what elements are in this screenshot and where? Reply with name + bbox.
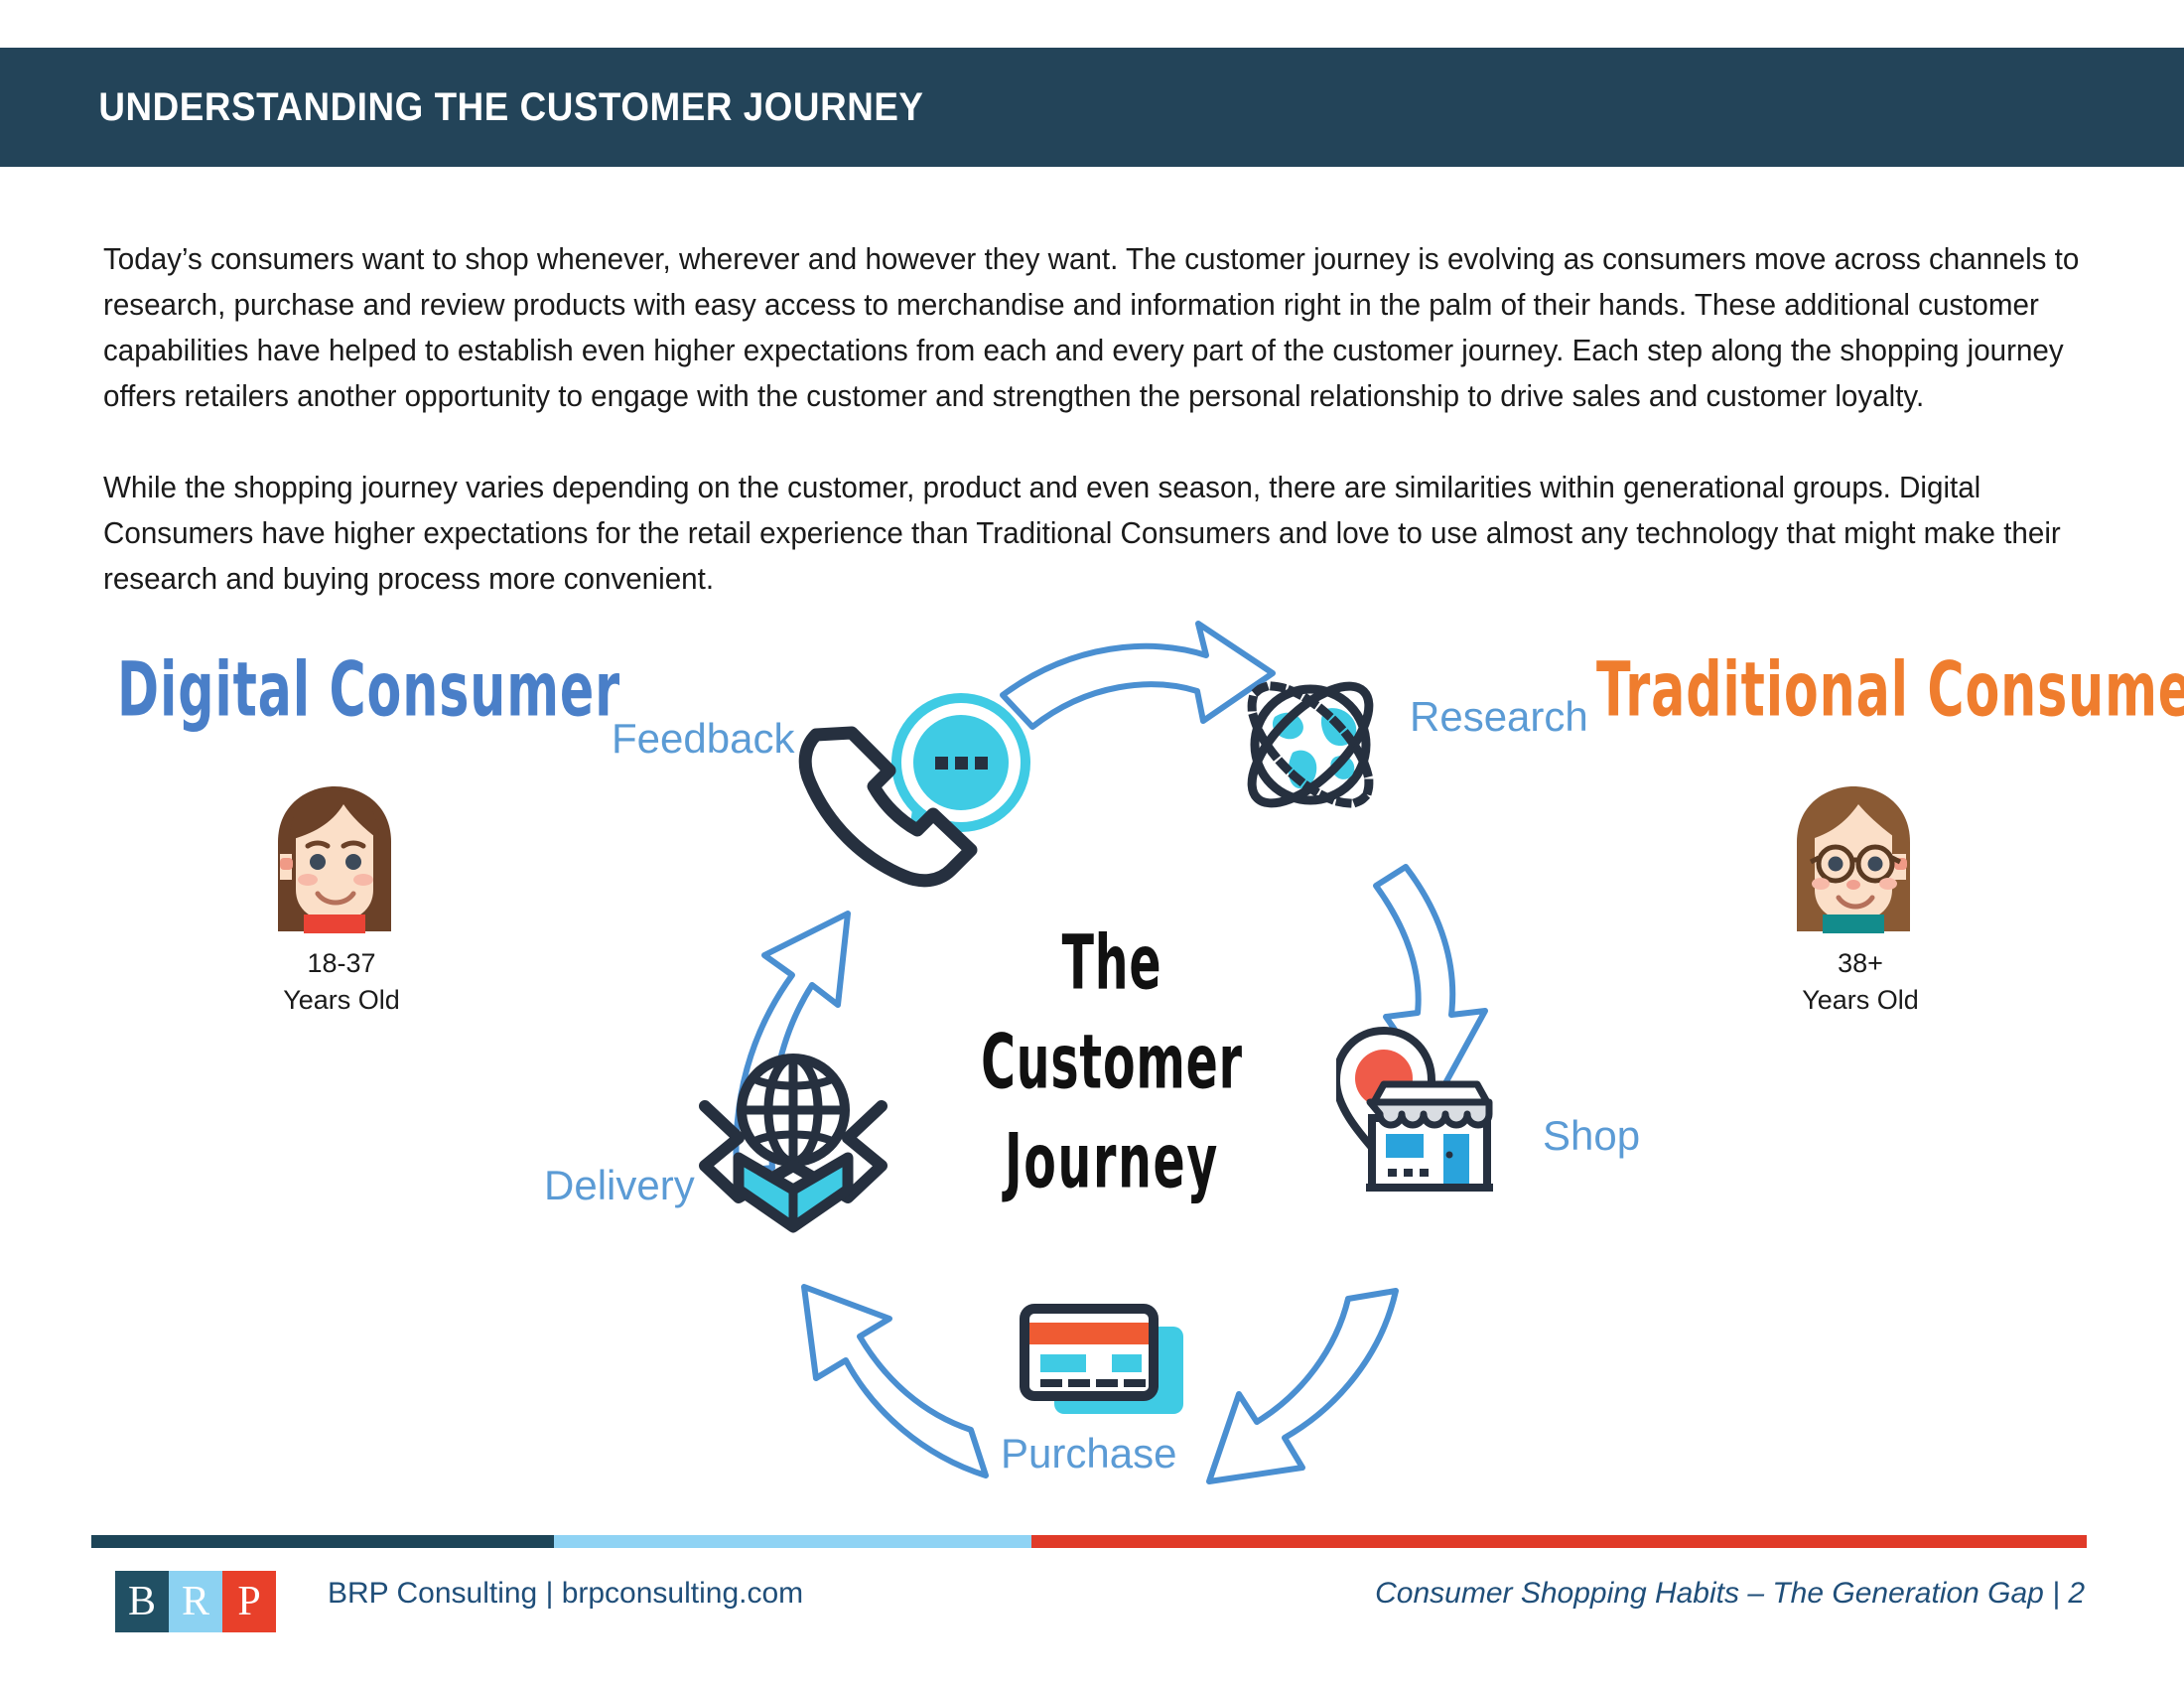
woman-glasses-avatar-icon [1779,784,1928,933]
brp-logo-letter-b: B [115,1571,169,1632]
persona-age-traditional-range: 38+ [1741,945,1979,982]
footer-rule-segment-navy [91,1535,554,1548]
persona-age-traditional-unit: Years Old [1741,982,1979,1019]
phone-chat-icon [794,675,1082,904]
storefront-pin-icon [1336,1023,1525,1211]
arrow-purchase-to-delivery [804,1287,986,1476]
footer-right-text: Consumer Shopping Habits – The Generatio… [1375,1577,2085,1611]
center-title-line-1: The Customer [935,914,1290,1112]
persona-title-digital: Digital Consumer [117,647,620,734]
open-box-globe-icon [689,1039,897,1237]
node-label-feedback: Feedback [612,715,794,763]
arrow-shop-to-purchase [1209,1291,1396,1481]
brp-logo: B R P [115,1571,276,1632]
woman-avatar-icon [260,784,409,933]
page-header: UNDERSTANDING THE CUSTOMER JOURNEY [0,48,2184,167]
diagram-center-title: The Customer Journey [935,914,1290,1211]
footer-rule [91,1535,2087,1548]
footer-rule-segment-blue [554,1535,1030,1548]
customer-journey-diagram: The Customer Journey Feedback Research [0,616,2184,1549]
node-label-research: Research [1410,693,1588,741]
credit-card-icon [1019,1301,1197,1440]
footer-left-text: BRP Consulting | brpconsulting.com [328,1577,803,1611]
brp-logo-letter-p: P [222,1571,276,1632]
footer-rule-segment-red [1031,1535,2087,1548]
persona-age-digital: 18-37 Years Old [222,945,461,1019]
persona-age-traditional: 38+ Years Old [1741,945,1979,1019]
node-label-delivery: Delivery [544,1162,695,1209]
node-label-purchase: Purchase [1001,1430,1176,1477]
body-copy: Today’s consumers want to shop whenever,… [103,236,2148,602]
persona-age-digital-range: 18-37 [222,945,461,982]
persona-title-traditional: Traditional Consumer [1596,647,2184,734]
page-title: UNDERSTANDING THE CUSTOMER JOURNEY [0,85,924,130]
brp-logo-letter-r: R [169,1571,222,1632]
paragraph-2: While the shopping journey varies depend… [103,465,2087,602]
paragraph-1: Today’s consumers want to shop whenever,… [103,236,2087,419]
globe-orbit-icon [1231,665,1390,824]
node-label-shop: Shop [1543,1112,1640,1160]
persona-age-digital-unit: Years Old [222,982,461,1019]
center-title-line-2: Journey [935,1112,1290,1211]
